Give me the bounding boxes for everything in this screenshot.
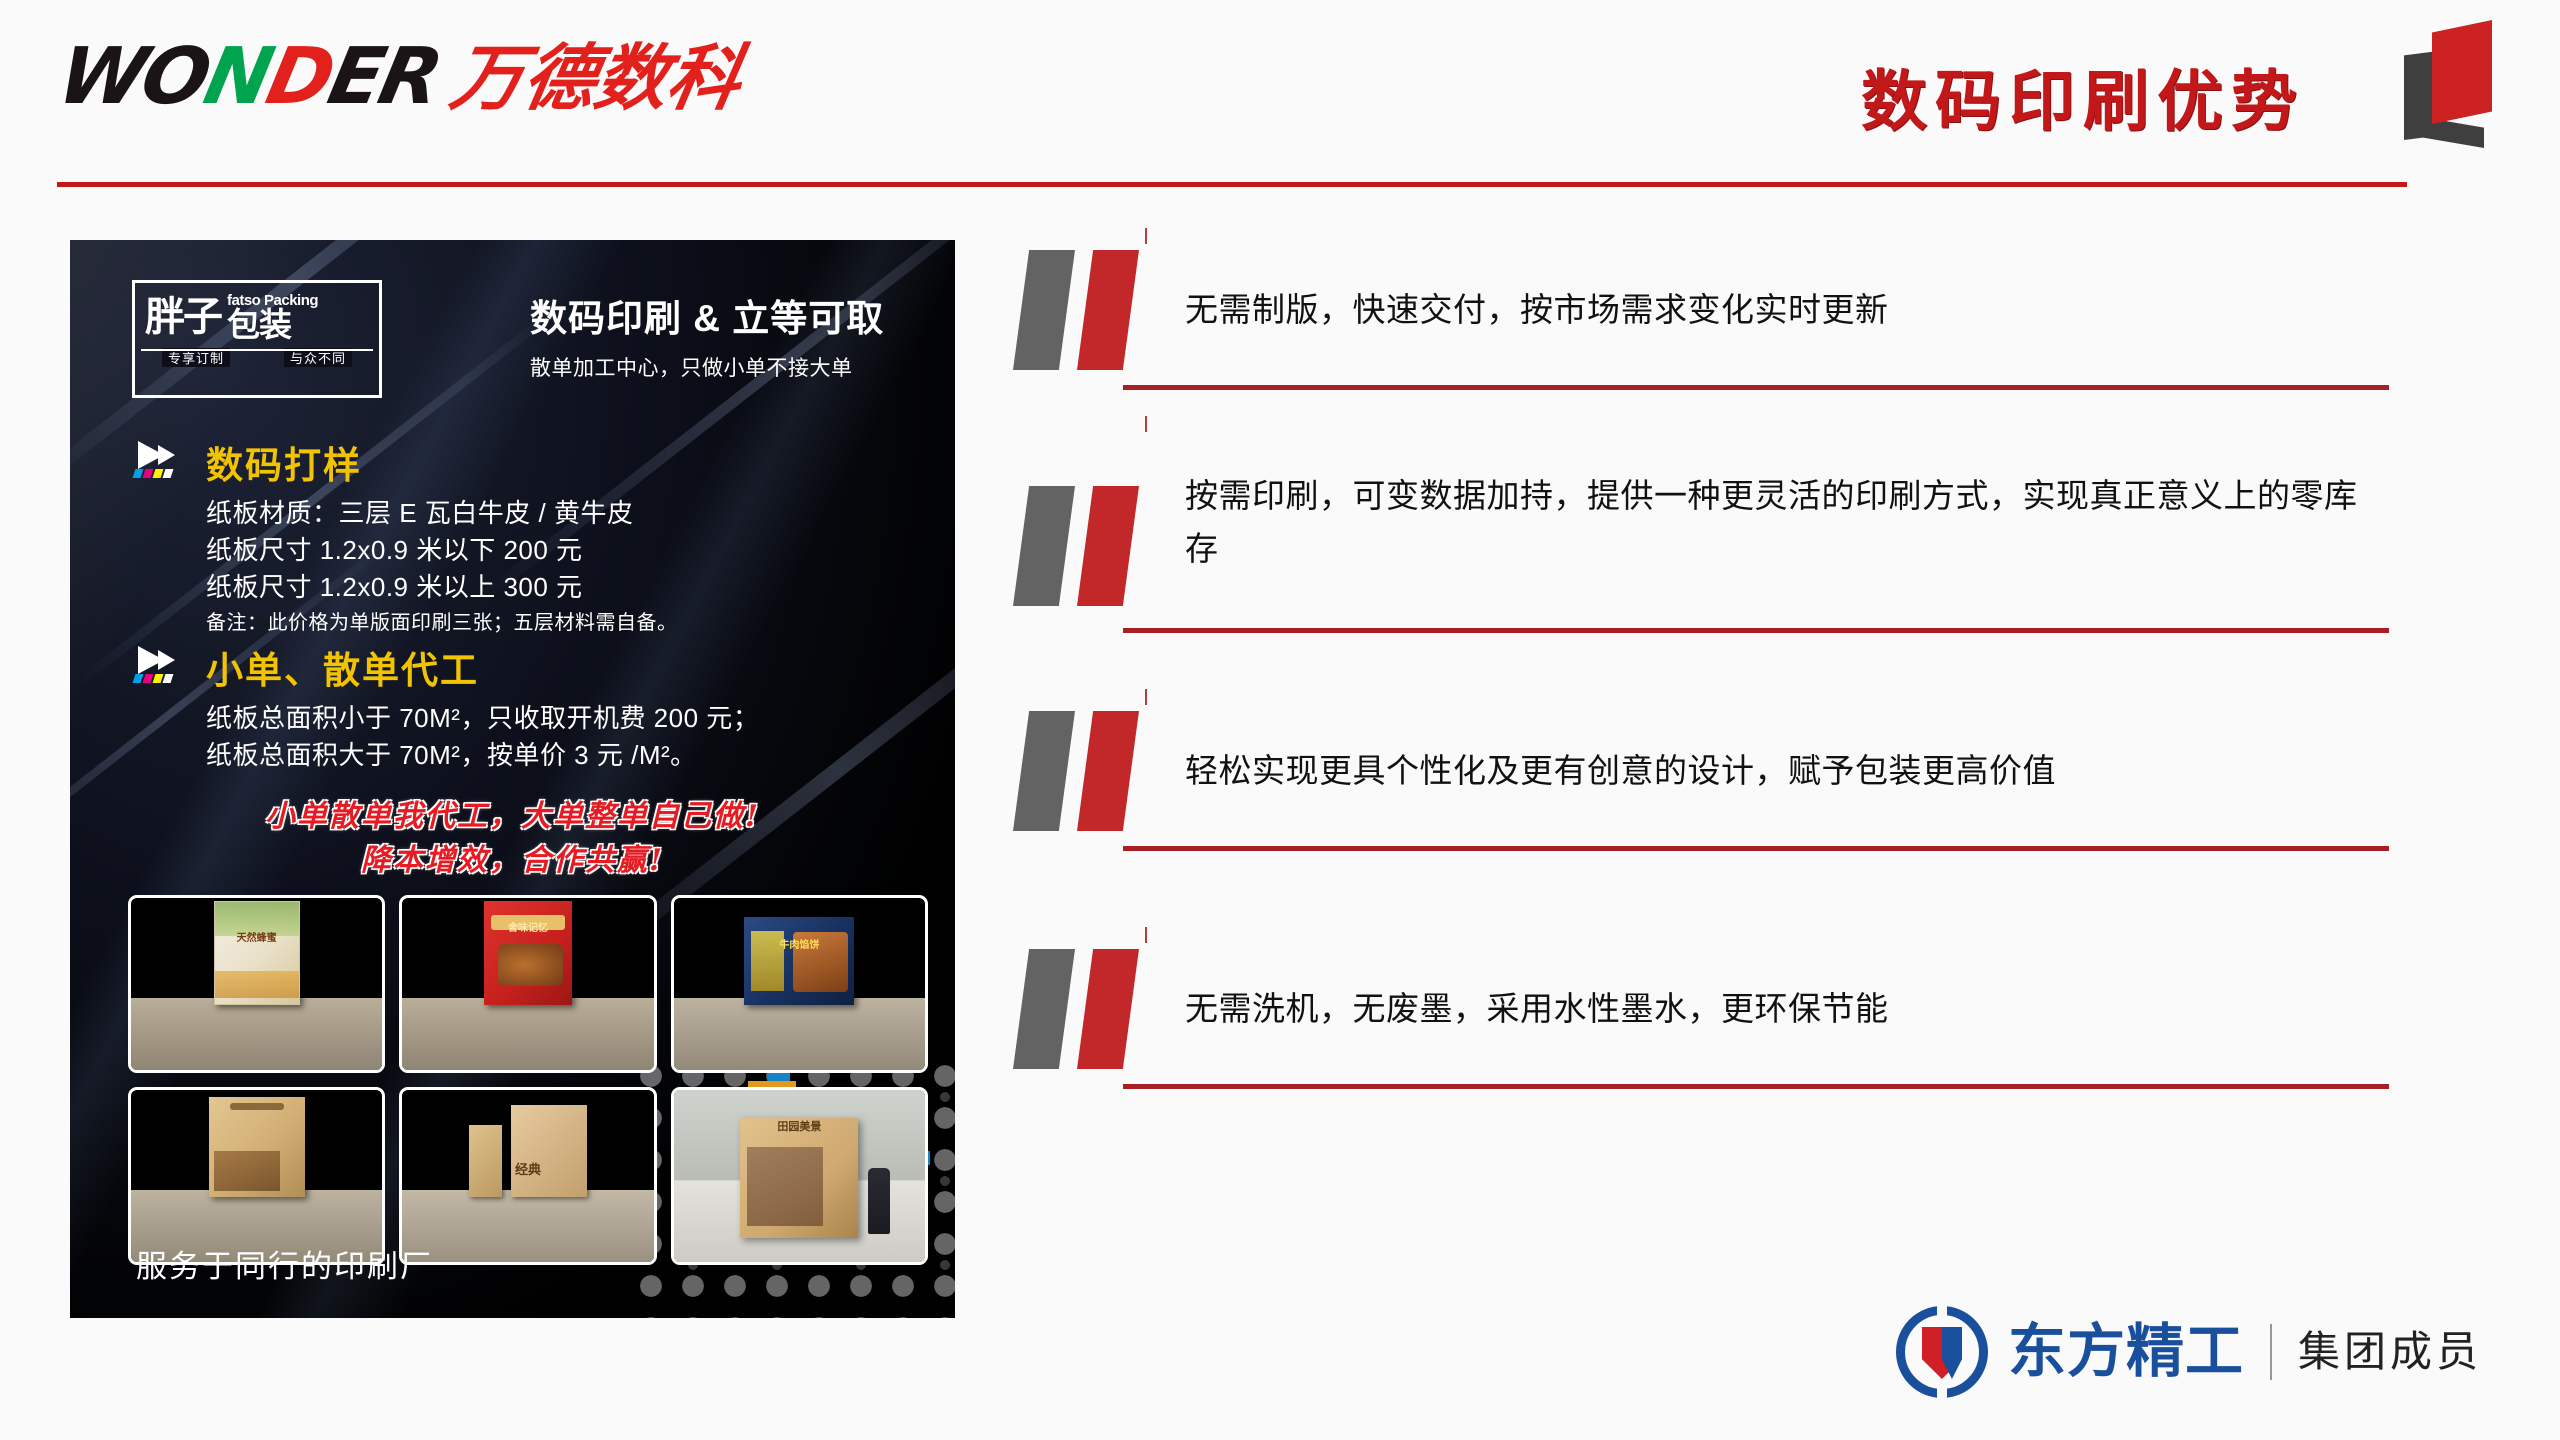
- poster-subheadline: 散单加工中心，只做小单不接大单: [530, 352, 930, 382]
- fatso-logo-subwrap: 专享订制 与众不同: [135, 348, 379, 367]
- double-chevron-icon: [1005, 250, 1185, 370]
- poster-section-line: 纸板材质：三层 E 瓦白牛皮 / 黄牛皮: [206, 495, 922, 532]
- poster-slogan-line-1: 小单散单我代工，大单整单自己做!: [70, 795, 955, 839]
- poster-section-title: 小单、散单代工: [132, 640, 922, 694]
- poster-section-title-text: 小单、散单代工: [206, 640, 479, 694]
- advantage-item-1[interactable]: 无需制版，快速交付，按市场需求变化实时更新: [1005, 250, 2405, 390]
- photo-floor: [131, 998, 382, 1070]
- brand-logo-er: ER: [321, 32, 447, 122]
- poster-headline-block: 数码印刷 & 立等可取 散单加工中心，只做小单不接大单: [530, 288, 930, 382]
- photo-red-food-gift-box: 舍味记忆: [399, 895, 656, 1073]
- poster-section-lines: 纸板材质：三层 E 瓦白牛皮 / 黄牛皮 纸板尺寸 1.2x0.9 米以下 20…: [206, 495, 922, 637]
- double-chevron-icon: [1005, 949, 1185, 1069]
- advantage-underline: [1123, 628, 2389, 633]
- bullet-tick-mark: [1145, 228, 1147, 244]
- poster-section-line: 纸板总面积小于 70M²，只收取开机费 200 元；: [206, 700, 922, 737]
- wonder-brand-logo: WONDER 万德数科: [60, 38, 740, 116]
- corner-red-panel: [2432, 20, 2492, 124]
- poster-section-line: 纸板尺寸 1.2x0.9 米以上 300 元: [206, 569, 922, 606]
- bullet-tick-mark: [1145, 689, 1147, 705]
- photo-box-shape: [740, 1118, 858, 1238]
- advantage-underline: [1123, 846, 2389, 851]
- photo-box-shape: [214, 901, 300, 1005]
- fatso-logo-row: 胖子 fatso Packing 包装: [135, 283, 379, 341]
- photo-caption: 天然蜂蜜: [131, 929, 382, 944]
- page-title: 数码印刷优势: [1861, 62, 2305, 141]
- advantage-underline: [1123, 385, 2389, 390]
- poster-section-note: 备注：此价格为单版面印刷三张；五层材料需自备。: [206, 609, 922, 637]
- photo-box-shape: [209, 1097, 305, 1197]
- fatso-logo-underline: [141, 349, 373, 351]
- photo-honey-gift-box: 天然蜂蜜: [128, 895, 385, 1073]
- product-photo-grid: 天然蜂蜜 舍味记忆 牛肉馅饼: [128, 895, 928, 1265]
- footer-divider: [2270, 1324, 2272, 1380]
- brand-logo-latin: WONDER: [52, 38, 446, 116]
- advantages-list: 无需制版，快速交付，按市场需求变化实时更新 按需印刷，可变数据加持，提供一种更灵…: [1005, 250, 2405, 1109]
- poster-section-lines: 纸板总面积小于 70M²，只收取开机费 200 元； 纸板总面积大于 70M²，…: [206, 700, 922, 774]
- poster-section-line: 纸板尺寸 1.2x0.9 米以下 200 元: [206, 532, 922, 569]
- photo-caption: 舍味记忆: [402, 919, 653, 934]
- photo-box-shape: [469, 1105, 587, 1197]
- photo-classic-kraft-boxes: 经典: [399, 1087, 656, 1265]
- corner-decoration-icon: [2394, 8, 2502, 148]
- chevron-arrow-icon: [132, 644, 194, 690]
- dongfang-jingong-footer-logo: 东方精工 集团成员: [1896, 1306, 2482, 1398]
- photo-floor: [402, 998, 653, 1070]
- photo-caption: 经典: [402, 1159, 653, 1178]
- advantage-item-4[interactable]: 无需洗机，无废墨，采用水性墨水，更环保节能: [1005, 949, 2405, 1089]
- poster-footer-text: 服务于同行的印刷厂: [136, 1241, 433, 1286]
- bullet-tick-mark: [1145, 416, 1147, 432]
- poster-slogan: 小单散单我代工，大单整单自己做! 降本增效，合作共赢!: [70, 795, 955, 882]
- poster-section-digital-proofing: 数码打样 纸板材质：三层 E 瓦白牛皮 / 黄牛皮 纸板尺寸 1.2x0.9 米…: [132, 435, 922, 637]
- poster-section-title-text: 数码打样: [206, 435, 362, 489]
- photo-large-scenic-carton: 田园美景: [671, 1087, 928, 1265]
- fatso-logo-big-cn: 胖子: [145, 298, 221, 336]
- photo-box-shape: [484, 901, 572, 1005]
- brand-logo-wo: WO: [50, 32, 215, 122]
- advantage-text: 无需制版，快速交付，按市场需求变化实时更新: [1185, 250, 2405, 370]
- poster-section-line: 纸板总面积大于 70M²，按单价 3 元 /M²。: [206, 737, 922, 774]
- poster-slogan-line-2: 降本增效，合作共赢!: [70, 839, 955, 883]
- header-divider: [57, 182, 2407, 187]
- footer-company-name: 东方精工: [2008, 1323, 2244, 1381]
- poster-section-title: 数码打样: [132, 435, 922, 489]
- brand-logo-chinese: 万德数科: [445, 43, 746, 115]
- advantage-item-2[interactable]: 按需印刷，可变数据加持，提供一种更灵活的印刷方式，实现真正意义上的零库存: [1005, 438, 2405, 633]
- double-chevron-icon: [1005, 711, 1185, 831]
- dongfang-emblem-icon: [1896, 1306, 1988, 1398]
- photo-person: [868, 1168, 890, 1234]
- advantage-text: 轻松实现更具个性化及更有创意的设计，赋予包装更高价值: [1185, 711, 2405, 831]
- advantage-text: 无需洗机，无废墨，采用水性墨水，更环保节能: [1185, 949, 2405, 1069]
- photo-beef-patty-box: 牛肉馅饼: [671, 895, 928, 1073]
- fatso-packing-logo: 胖子 fatso Packing 包装 专享订制 与众不同: [132, 280, 382, 398]
- photo-floor: [674, 998, 925, 1070]
- photo-kraft-handle-box: [128, 1087, 385, 1265]
- advantage-text: 按需印刷，可变数据加持，提供一种更灵活的印刷方式，实现真正意义上的零库存: [1185, 438, 2405, 606]
- advantage-item-3[interactable]: 轻松实现更具个性化及更有创意的设计，赋予包装更高价值: [1005, 711, 2405, 851]
- poster-headline: 数码印刷 & 立等可取: [530, 288, 930, 342]
- bullet-tick-mark: [1145, 927, 1147, 943]
- slide-header: WONDER 万德数科 数码印刷优势: [0, 0, 2560, 200]
- fatso-logo-right: fatso Packing 包装: [227, 293, 318, 341]
- fatso-logo-cn: 包装: [227, 308, 318, 341]
- photo-caption: 田园美景: [674, 1118, 925, 1134]
- poster-section-small-order-oem: 小单、散单代工 纸板总面积小于 70M²，只收取开机费 200 元； 纸板总面积…: [132, 640, 922, 774]
- photo-floor: [402, 1190, 653, 1262]
- photo-caption: 牛肉馅饼: [674, 936, 925, 951]
- photo-box-shape: [744, 917, 854, 1005]
- advantage-underline: [1123, 1084, 2389, 1089]
- double-chevron-icon: [1005, 486, 1185, 606]
- promo-poster-image: 胖子 fatso Packing 包装 专享订制 与众不同 数码印刷 & 立等可…: [70, 240, 955, 1318]
- footer-membership-label: 集团成员: [2298, 1331, 2482, 1373]
- chevron-arrow-icon: [132, 439, 194, 485]
